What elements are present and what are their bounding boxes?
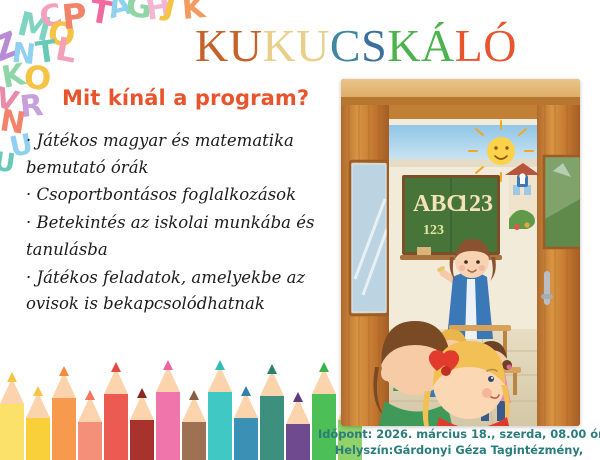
colored-pencils-decoration (0, 350, 325, 460)
title-segment-1: KU (262, 20, 329, 71)
program-bullet-3: · Játékos feladatok, amelyekbe az ovisok… (26, 265, 326, 318)
pencil-5 (130, 390, 154, 460)
pencil-7 (182, 392, 206, 460)
title-segment-5: LÓ (455, 20, 517, 71)
alphabet-letter-n-11: N (11, 39, 37, 69)
alphabet-letter-l-13: L (53, 32, 79, 67)
pencil-tip-11 (293, 392, 303, 402)
alphabet-letter-t-12: T (34, 37, 58, 70)
alphabet-letter-r-17: R (18, 91, 44, 123)
alphabet-letter-v-16: V (0, 84, 21, 117)
poster-title: KUKUCSKÁLÓ (195, 22, 517, 70)
alphabet-letter-n-18: N (0, 106, 27, 140)
chalkboard-small-123-text: 123 (423, 223, 444, 238)
pencil-tip-2 (59, 366, 69, 376)
alphabet-letter-o-15: O (23, 61, 53, 95)
poster-canvas: ZMCOPTAGHJKNTLKOVRNUU KUKUCSKÁLÓ Mit kín… (0, 0, 600, 460)
pencil-tip-12 (319, 362, 329, 372)
alphabet-letter-k-14: K (0, 60, 28, 94)
pencil-8 (208, 362, 232, 460)
classroom-illustration: ABC 123 123 (341, 79, 580, 426)
pencil-body-0 (0, 404, 24, 460)
chalkboard-123-text: 123 (457, 191, 493, 217)
pencil-body-7 (182, 422, 206, 460)
title-segment-2: C (330, 20, 361, 71)
pencil-10 (260, 366, 284, 460)
program-bullet-0: · Játékos magyar és matematika bemutató … (26, 128, 326, 181)
event-time: Időpont: 2026. március 18., szerda, 08.0… (318, 426, 600, 442)
pencil-body-4 (104, 394, 128, 460)
pencil-body-11 (286, 424, 310, 460)
pencil-body-5 (130, 420, 154, 460)
pencil-1 (26, 388, 50, 460)
program-bullet-1: · Csoportbontásos foglalkozások (26, 182, 326, 209)
program-question-heading: Mit kínál a program? (62, 86, 309, 110)
pencil-4 (104, 364, 128, 460)
pencil-body-10 (260, 396, 284, 460)
program-bullet-2: · Betekintés az iskolai munkába és tanul… (26, 210, 326, 263)
pencil-tip-8 (215, 360, 225, 370)
title-segment-4: KÁ (387, 20, 454, 71)
alphabet-letter-j-9: J (161, 0, 179, 23)
alphabet-letter-g-7: G (124, 0, 154, 23)
alphabet-letter-t-5: T (87, 0, 114, 30)
alphabet-letter-p-4: P (60, 0, 88, 35)
title-segment-3: S (361, 20, 387, 71)
pencil-body-1 (26, 418, 50, 460)
pencil-9 (234, 388, 258, 460)
pencil-tip-10 (267, 364, 277, 374)
pencil-6 (156, 362, 180, 460)
pencil-tip-5 (137, 388, 147, 398)
pencil-tip-4 (111, 362, 121, 372)
alphabet-letter-o-3: O (46, 16, 77, 51)
alphabet-letter-a-6: A (105, 0, 135, 24)
pencil-body-6 (156, 392, 180, 460)
pencil-body-3 (78, 422, 102, 460)
event-details: Időpont: 2026. március 18., szerda, 08.0… (318, 426, 600, 458)
event-place: Helyszín:Gárdonyi Géza Tagintézmény, (318, 442, 600, 458)
pencil-body-8 (208, 392, 232, 460)
pencil-tip-0 (7, 372, 17, 382)
pencil-3 (78, 392, 102, 460)
pencil-tip-1 (33, 386, 43, 396)
pencil-tip-9 (241, 386, 251, 396)
pencil-0 (0, 374, 24, 460)
classroom-scene-svg: ABC 123 123 (341, 79, 580, 426)
pencil-tip-7 (189, 390, 199, 400)
alphabet-letter-z-0: Z (0, 27, 24, 68)
pencil-tip-3 (85, 390, 95, 400)
alphabet-letter-h-8: H (144, 0, 173, 26)
title-segment-0: KU (195, 20, 262, 71)
alphabet-letter-m-1: M (14, 7, 54, 47)
pencil-body-2 (52, 398, 76, 460)
program-offer-list: · Játékos magyar és matematika bemutató … (26, 128, 326, 319)
pencil-2 (52, 368, 76, 460)
pencil-body-9 (234, 418, 258, 460)
alphabet-letter-c-2: C (37, 0, 65, 34)
pencil-11 (286, 394, 310, 460)
alphabet-letter-u-20: U (0, 149, 17, 178)
pencil-tip-6 (163, 360, 173, 370)
